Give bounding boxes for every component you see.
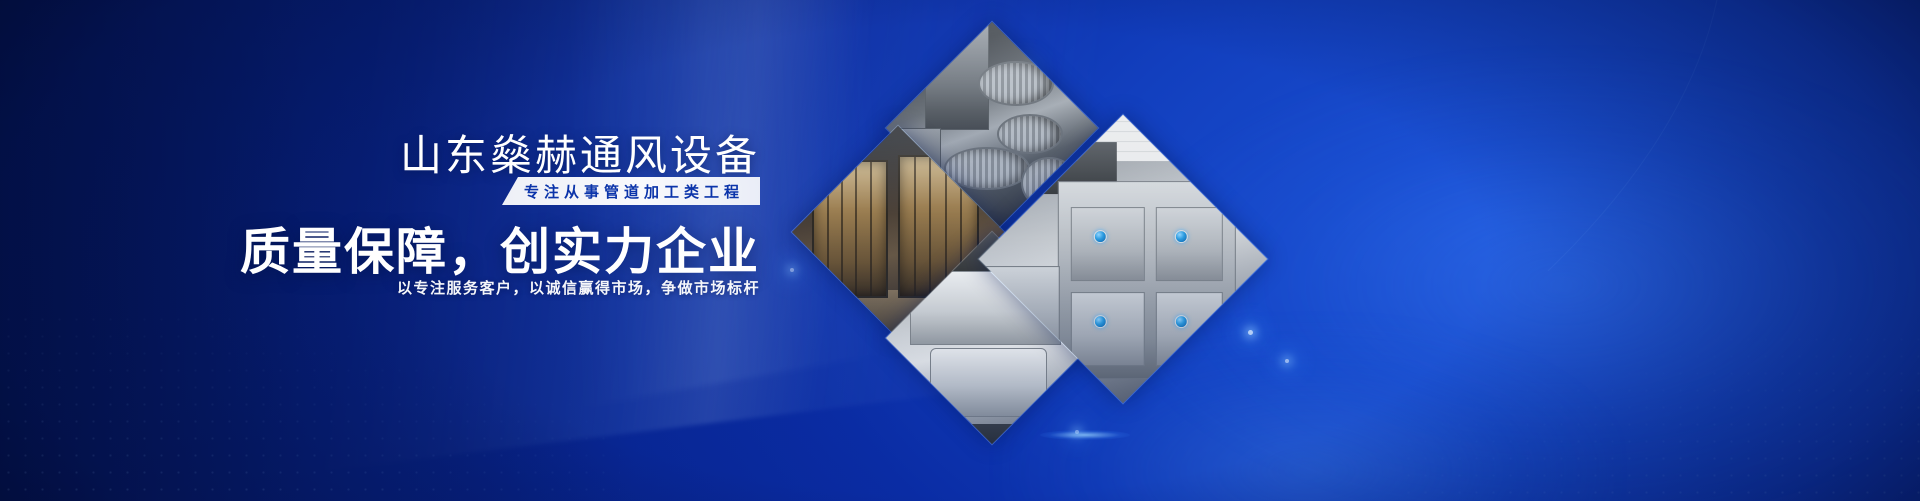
gauge-indicator <box>1175 314 1188 327</box>
spark-dot <box>1248 330 1253 335</box>
headline: 质量保障，创实力企业 <box>240 212 760 284</box>
gauge-indicator <box>1175 230 1188 243</box>
tagline: 以专注服务客户，以诚信赢得市场，争做市场标杆 <box>397 277 760 298</box>
gauge-indicator <box>1094 314 1107 327</box>
subtitle-text: 专注从事管道加工类工程 <box>524 181 744 202</box>
page-title: 山东燊赫通风设备 <box>400 122 760 183</box>
hero-banner: 山东燊赫通风设备 专注从事管道加工类工程 质量保障，创实力企业 以专注服务客户，… <box>0 0 1920 501</box>
subtitle-band: 专注从事管道加工类工程 <box>502 177 760 205</box>
gauge-indicator <box>1094 230 1107 243</box>
subtitle-band-wrapper: 专注从事管道加工类工程 <box>502 177 760 205</box>
banner-copy: 山东燊赫通风设备 专注从事管道加工类工程 质量保障，创实力企业 以专注服务客户，… <box>0 0 800 501</box>
diamond-photo-collage <box>808 38 1238 463</box>
spark-dot <box>1285 359 1289 363</box>
